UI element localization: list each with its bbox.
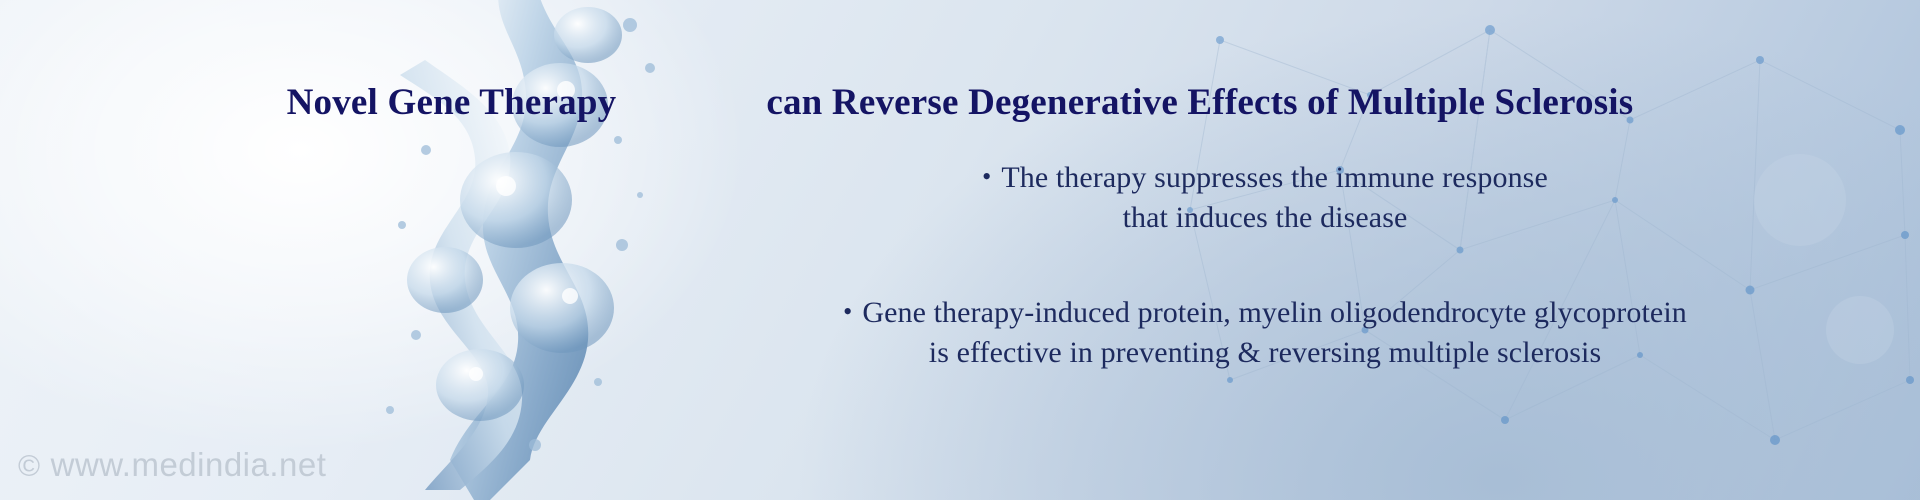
copyright-icon: ©	[18, 450, 41, 483]
headline-segment-left: Novel Gene Therapy	[287, 82, 617, 123]
bullet-1-line-1: The therapy suppresses the immune respon…	[1001, 161, 1548, 194]
bullet-marker-icon: •	[982, 162, 991, 191]
bullet-list: •The therapy suppresses the immune respo…	[640, 150, 1890, 372]
watermark-url: www.medindia.net	[51, 446, 327, 483]
watermark: ©www.medindia.net	[18, 446, 326, 484]
page-title: Novel Gene Therapycan Reverse Degenerati…	[0, 84, 1920, 121]
health-infographic-banner: Novel Gene Therapycan Reverse Degenerati…	[0, 0, 1920, 500]
bullet-1-line-2: that induces the disease	[640, 198, 1890, 238]
bullet-2-line-2: is effective in preventing & reversing m…	[640, 333, 1890, 373]
list-item: •The therapy suppresses the immune respo…	[640, 158, 1890, 237]
headline-segment-right: can Reverse Degenerative Effects of Mult…	[766, 82, 1633, 123]
bullet-marker-icon: •	[843, 297, 852, 326]
bullet-2-line-1: Gene therapy-induced protein, myelin oli…	[862, 296, 1687, 329]
list-item: •Gene therapy-induced protein, myelin ol…	[640, 293, 1890, 372]
